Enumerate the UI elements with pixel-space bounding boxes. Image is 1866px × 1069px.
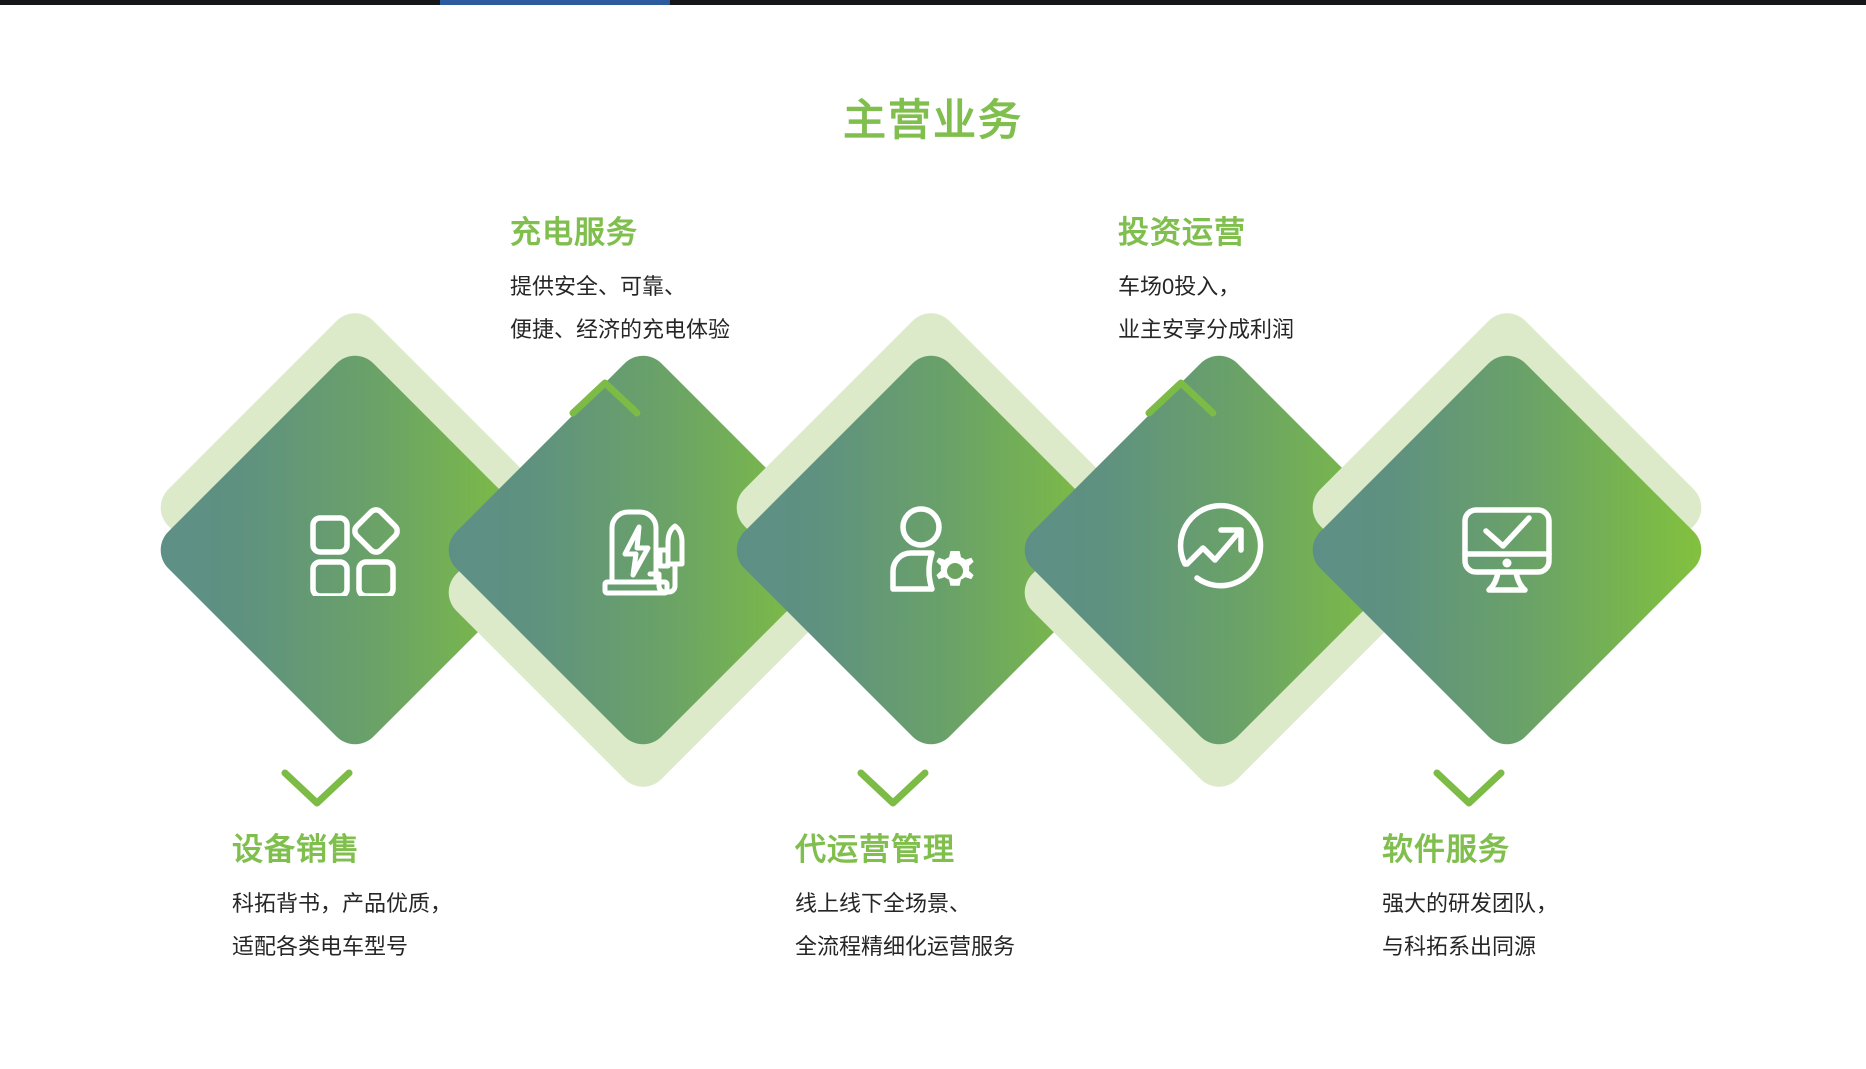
business-title-4: 投资运营 bbox=[1118, 207, 1548, 252]
business-desc-2-line-2: 便捷、经济的充电体验 bbox=[510, 309, 940, 352]
business-desc-4-line-1: 车场0投入， bbox=[1118, 266, 1548, 309]
business-title-1: 设备销售 bbox=[232, 824, 662, 869]
business-label-1: 设备销售 科拓背书，产品优质， 适配各类电车型号 bbox=[232, 824, 662, 969]
business-label-3: 代运营管理 线上线下全场景、 全流程精细化运营服务 bbox=[795, 824, 1225, 969]
business-label-5: 软件服务 强大的研发团队， 与科拓系出同源 bbox=[1382, 824, 1812, 969]
chevron-down-icon-1 bbox=[279, 765, 355, 811]
business-label-2: 充电服务 提供安全、可靠、 便捷、经济的充电体验 bbox=[510, 207, 940, 352]
business-node-5[interactable] bbox=[1337, 380, 1677, 720]
business-desc-1-line-2: 适配各类电车型号 bbox=[232, 926, 662, 969]
business-desc-5-line-2: 与科拓系出同源 bbox=[1382, 926, 1812, 969]
business-desc-2-line-1: 提供安全、可靠、 bbox=[510, 266, 940, 309]
chevron-down-icon-5 bbox=[1431, 765, 1507, 811]
business-title-3: 代运营管理 bbox=[795, 824, 1225, 869]
chevron-down-icon-3 bbox=[855, 765, 931, 811]
business-flow-diagram: 设备销售 科拓背书，产品优质， 适配各类电车型号 充电服务 提供安全、可靠、 便… bbox=[0, 0, 1866, 1069]
business-title-2: 充电服务 bbox=[510, 207, 940, 252]
chevron-up-icon-2 bbox=[567, 375, 643, 421]
business-title-5: 软件服务 bbox=[1382, 824, 1812, 869]
business-desc-3-line-2: 全流程精细化运营服务 bbox=[795, 926, 1225, 969]
business-desc-5-line-1: 强大的研发团队， bbox=[1382, 883, 1812, 926]
business-desc-3-line-1: 线上线下全场景、 bbox=[795, 883, 1225, 926]
monitor-check-icon bbox=[1362, 405, 1652, 695]
business-desc-1-line-1: 科拓背书，产品优质， bbox=[232, 883, 662, 926]
chevron-up-icon-4 bbox=[1143, 375, 1219, 421]
